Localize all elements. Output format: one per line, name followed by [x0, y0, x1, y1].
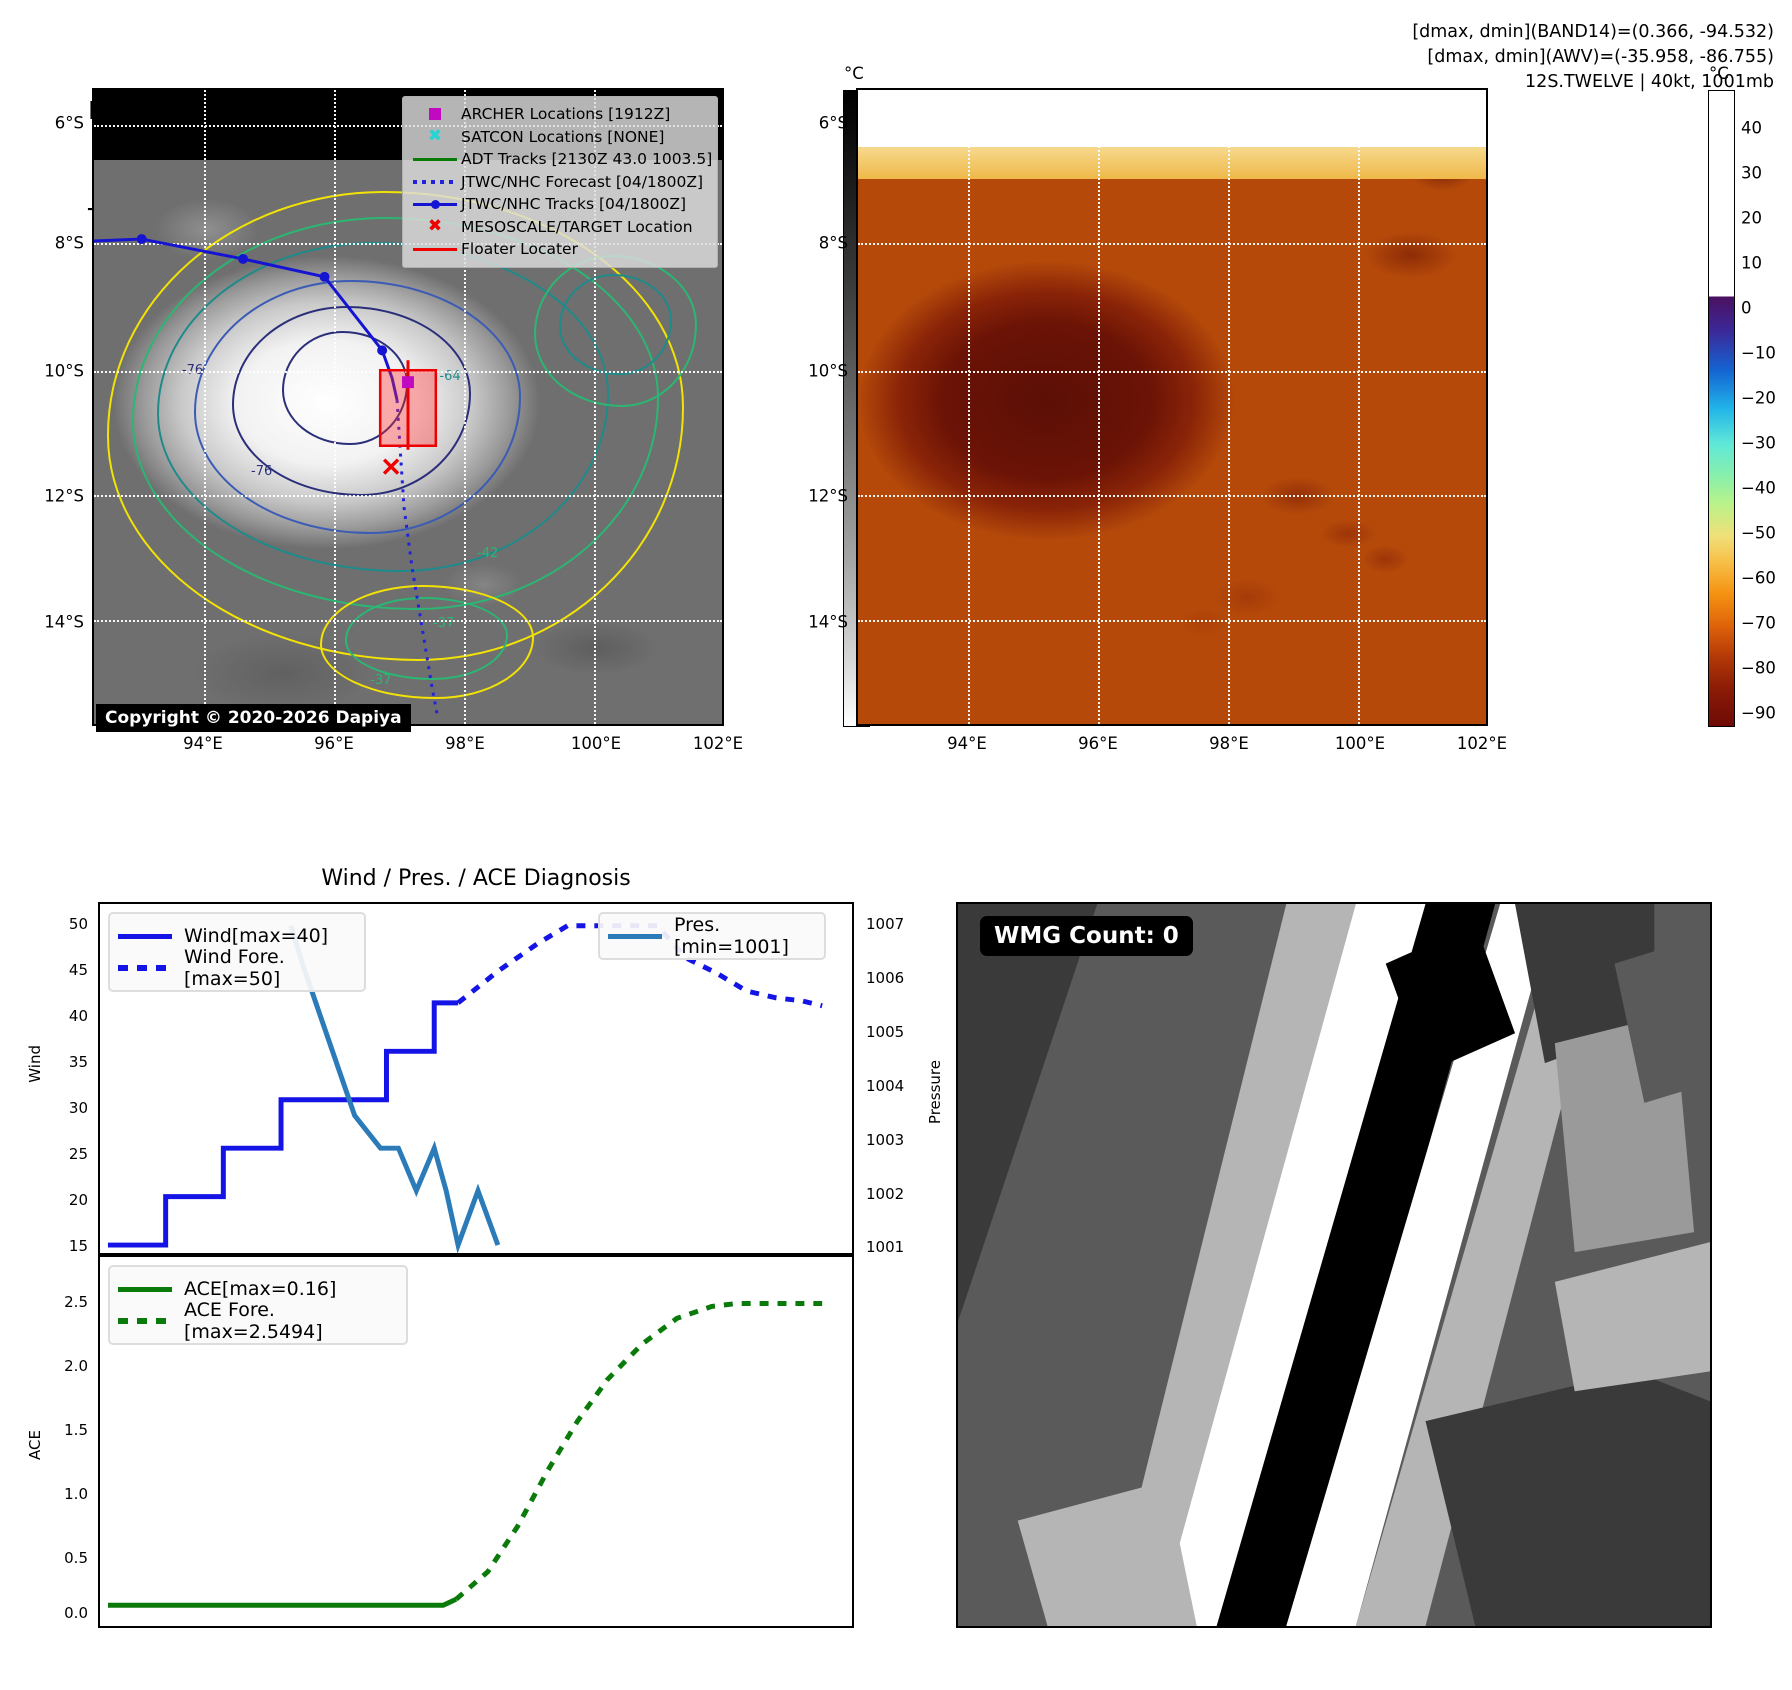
awv-gridline-lon-98 [1228, 90, 1230, 724]
legend-item-mesoscale-target[interactable]: ✖ MESOSCALE/TARGET Location [409, 216, 709, 239]
red-solid-line-icon [409, 248, 461, 251]
awv-colorbar [1708, 90, 1735, 727]
legend-label: MESOSCALE/TARGET Location [461, 218, 693, 236]
awv-cb-tick-2: 20 [1741, 209, 1762, 228]
ace-ytick-2.0: 2.0 [64, 1357, 88, 1375]
wind-observed-line [108, 1003, 458, 1245]
pres-ytick-1007: 1007 [866, 915, 904, 933]
wind-ytick-35: 35 [69, 1053, 88, 1071]
wind-ytick-40: 40 [69, 1007, 88, 1025]
awv-gridline-lat-10s [858, 371, 1486, 373]
wind-ytick-15: 15 [69, 1237, 88, 1255]
pressure-chart-legend[interactable]: Pres.[min=1001] [598, 912, 826, 960]
ir-lat-tick-1: 8°S [55, 234, 84, 253]
ace-observed-line [108, 1599, 456, 1605]
pres-ytick-1001: 1001 [866, 1238, 904, 1256]
awv-cb-tick-4: 0 [1741, 299, 1752, 318]
legend-item-adt-tracks[interactable]: ADT Tracks [2130Z 43.0 1003.5] [409, 148, 709, 171]
ace-ytick-2.5: 2.5 [64, 1293, 88, 1311]
ir-lon-tick-3: 100°E [571, 734, 621, 753]
awv-cb-tick-13: −90 [1741, 704, 1776, 723]
awv-cb-tick-11: −70 [1741, 614, 1776, 633]
awv-cb-tick-3: 10 [1741, 254, 1762, 273]
ir-lat-tick-4: 14°S [44, 613, 84, 632]
wind-ytick-25: 25 [69, 1145, 88, 1163]
cyan-x-marker-icon: ✖ [409, 128, 461, 145]
legend-item-floater-locater[interactable]: Floater Locater [409, 238, 709, 261]
pres-ytick-1005: 1005 [866, 1023, 904, 1041]
blue-dotted-line-icon [118, 965, 184, 971]
ir-lat-tick-0: 6°S [55, 114, 84, 133]
awv-gridline-lon-96 [1098, 90, 1100, 724]
awv-gridline-lat-8s [858, 243, 1486, 245]
legend-item-satcon[interactable]: ✖ SATCON Locations [NONE] [409, 126, 709, 149]
blue-dotted-line-icon [409, 180, 461, 184]
ace-ytick-1.5: 1.5 [64, 1421, 88, 1439]
ace-ytick-1.0: 1.0 [64, 1485, 88, 1503]
mesoscale-target-marker [384, 460, 398, 474]
awv-gridline-lon-94 [968, 90, 970, 724]
legend-label: ACE Fore.[max=2.5494] [184, 1299, 398, 1343]
awv-lat-tick-2: 10°S [808, 362, 848, 381]
legend-label: JTWC/NHC Forecast [04/1800Z] [461, 173, 703, 191]
awv-lon-tick-0: 94°E [947, 734, 987, 753]
awv-colorbar-unit: °C [1709, 64, 1729, 83]
awv-cb-tick-5: −10 [1741, 344, 1776, 363]
track-point [137, 234, 147, 244]
pres-ytick-1006: 1006 [866, 969, 904, 987]
green-solid-line-icon [118, 1287, 184, 1292]
wmg-count-badge: WMG Count: 0 [980, 916, 1193, 956]
jtwc-forecast-line [397, 400, 438, 718]
ace-chart-legend[interactable]: ACE[max=0.16] ACE Fore.[max=2.5494] [108, 1265, 408, 1345]
ir-lon-tick-2: 98°E [445, 734, 485, 753]
steel-solid-line-icon [608, 934, 674, 939]
legend-item-archer[interactable]: ARCHER Locations [1912Z] [409, 103, 709, 126]
awv-cb-tick-6: −20 [1741, 389, 1776, 408]
ir-lat-tick-3: 12°S [44, 487, 84, 506]
legend-item-jtwc-forecast[interactable]: JTWC/NHC Forecast [04/1800Z] [409, 171, 709, 194]
ir-map-legend[interactable]: ARCHER Locations [1912Z] ✖ SATCON Locati… [402, 96, 718, 268]
legend-label: ACE[max=0.16] [184, 1278, 336, 1300]
awv-cb-tick-0: 40 [1741, 119, 1762, 138]
blue-line-with-dot-icon [409, 198, 461, 210]
ir-colorbar-unit: °C [844, 64, 864, 83]
wmg-classification-map[interactable] [956, 902, 1712, 1628]
green-dotted-line-icon [118, 1318, 184, 1324]
legend-item-wind-forecast[interactable]: Wind Fore.[max=50] [118, 952, 356, 984]
legend-label: Pres.[min=1001] [674, 914, 816, 958]
ace-axis-label: ACE [26, 1430, 44, 1460]
awv-lon-tick-3: 100°E [1335, 734, 1385, 753]
dashboard-root: HIMAWARI-9 BAND14-DIAS TARGET AREA Time:… [0, 0, 1792, 1690]
wind-ytick-30: 30 [69, 1099, 88, 1117]
legend-item-pressure[interactable]: Pres.[min=1001] [608, 920, 816, 952]
track-point [238, 254, 248, 264]
track-point [320, 272, 330, 282]
blue-solid-line-icon [118, 934, 184, 939]
legend-label: Wind Fore.[max=50] [184, 946, 356, 990]
archer-location-marker [402, 376, 414, 388]
legend-label: ADT Tracks [2130Z 43.0 1003.5] [461, 150, 712, 168]
red-x-marker-icon: ✖ [409, 218, 461, 235]
awv-lon-tick-2: 98°E [1209, 734, 1249, 753]
ir-lat-tick-2: 10°S [44, 362, 84, 381]
ir-lon-tick-0: 94°E [183, 734, 223, 753]
awv-cb-tick-9: −50 [1741, 524, 1776, 543]
awv-gridline-lon-100 [1358, 90, 1360, 724]
awv-gridline-lat-12s [858, 495, 1486, 497]
awv-lat-tick-4: 14°S [808, 613, 848, 632]
ir-lon-tick-1: 96°E [314, 734, 354, 753]
pres-ytick-1004: 1004 [866, 1077, 904, 1095]
legend-item-jtwc-tracks[interactable]: JTWC/NHC Tracks [04/1800Z] [409, 193, 709, 216]
awv-lat-tick-0: 6°S [819, 114, 848, 133]
legend-label: SATCON Locations [NONE] [461, 128, 664, 146]
awv-lat-tick-1: 8°S [819, 234, 848, 253]
ace-ytick-0.5: 0.5 [64, 1549, 88, 1567]
awv-cb-tick-10: −60 [1741, 569, 1776, 588]
copyright-notice: Copyright © 2020-2026 Dapiya [96, 704, 411, 732]
wind-ytick-20: 20 [69, 1191, 88, 1209]
ir-lon-tick-4: 102°E [693, 734, 743, 753]
pressure-axis-label: Pressure [926, 1060, 944, 1124]
awv-gridline-lat-14s [858, 620, 1486, 622]
header-stats: [dmax, dmin](BAND14)=(0.366, -94.532) [d… [1412, 20, 1774, 95]
pres-ytick-1003: 1003 [866, 1131, 904, 1149]
legend-label: JTWC/NHC Tracks [04/1800Z] [461, 195, 686, 213]
stat-band14: [dmax, dmin](BAND14)=(0.366, -94.532) [1412, 20, 1774, 45]
awv-haze-band [858, 147, 1486, 179]
legend-label: ARCHER Locations [1912Z] [461, 105, 670, 123]
pres-ytick-1002: 1002 [866, 1185, 904, 1203]
ace-ytick-0.0: 0.0 [64, 1604, 88, 1622]
wind-ytick-45: 45 [69, 961, 88, 979]
legend-item-ace-forecast[interactable]: ACE Fore.[max=2.5494] [118, 1305, 398, 1337]
wmg-raster [958, 904, 1710, 1626]
legend-label: Floater Locater [461, 240, 578, 258]
legend-label: Wind[max=40] [184, 925, 328, 947]
awv-cb-tick-8: −40 [1741, 479, 1776, 498]
awv-cb-tick-1: 30 [1741, 164, 1762, 183]
awv-lon-tick-1: 96°E [1078, 734, 1118, 753]
wind-ytick-50: 50 [69, 915, 88, 933]
wind-axis-label: Wind [26, 1045, 44, 1083]
magenta-square-marker-icon [409, 108, 461, 120]
wind-pres-ace-title: Wind / Pres. / ACE Diagnosis [98, 866, 854, 891]
awv-lat-tick-3: 12°S [808, 487, 848, 506]
wind-chart-legend[interactable]: Wind[max=40] Wind Fore.[max=50] [108, 912, 366, 992]
awv-cb-tick-7: −30 [1741, 434, 1776, 453]
awv-satellite-map[interactable] [856, 88, 1488, 726]
track-point [377, 345, 387, 355]
green-solid-line-icon [409, 158, 461, 161]
awv-cb-tick-12: −80 [1741, 659, 1776, 678]
awv-lon-tick-4: 102°E [1457, 734, 1507, 753]
awv-gridline-lat-6s [858, 125, 1486, 127]
awv-top-white-band [858, 90, 1486, 147]
awv-cloud-texture [858, 90, 1486, 724]
ace-forecast-line [456, 1303, 822, 1599]
